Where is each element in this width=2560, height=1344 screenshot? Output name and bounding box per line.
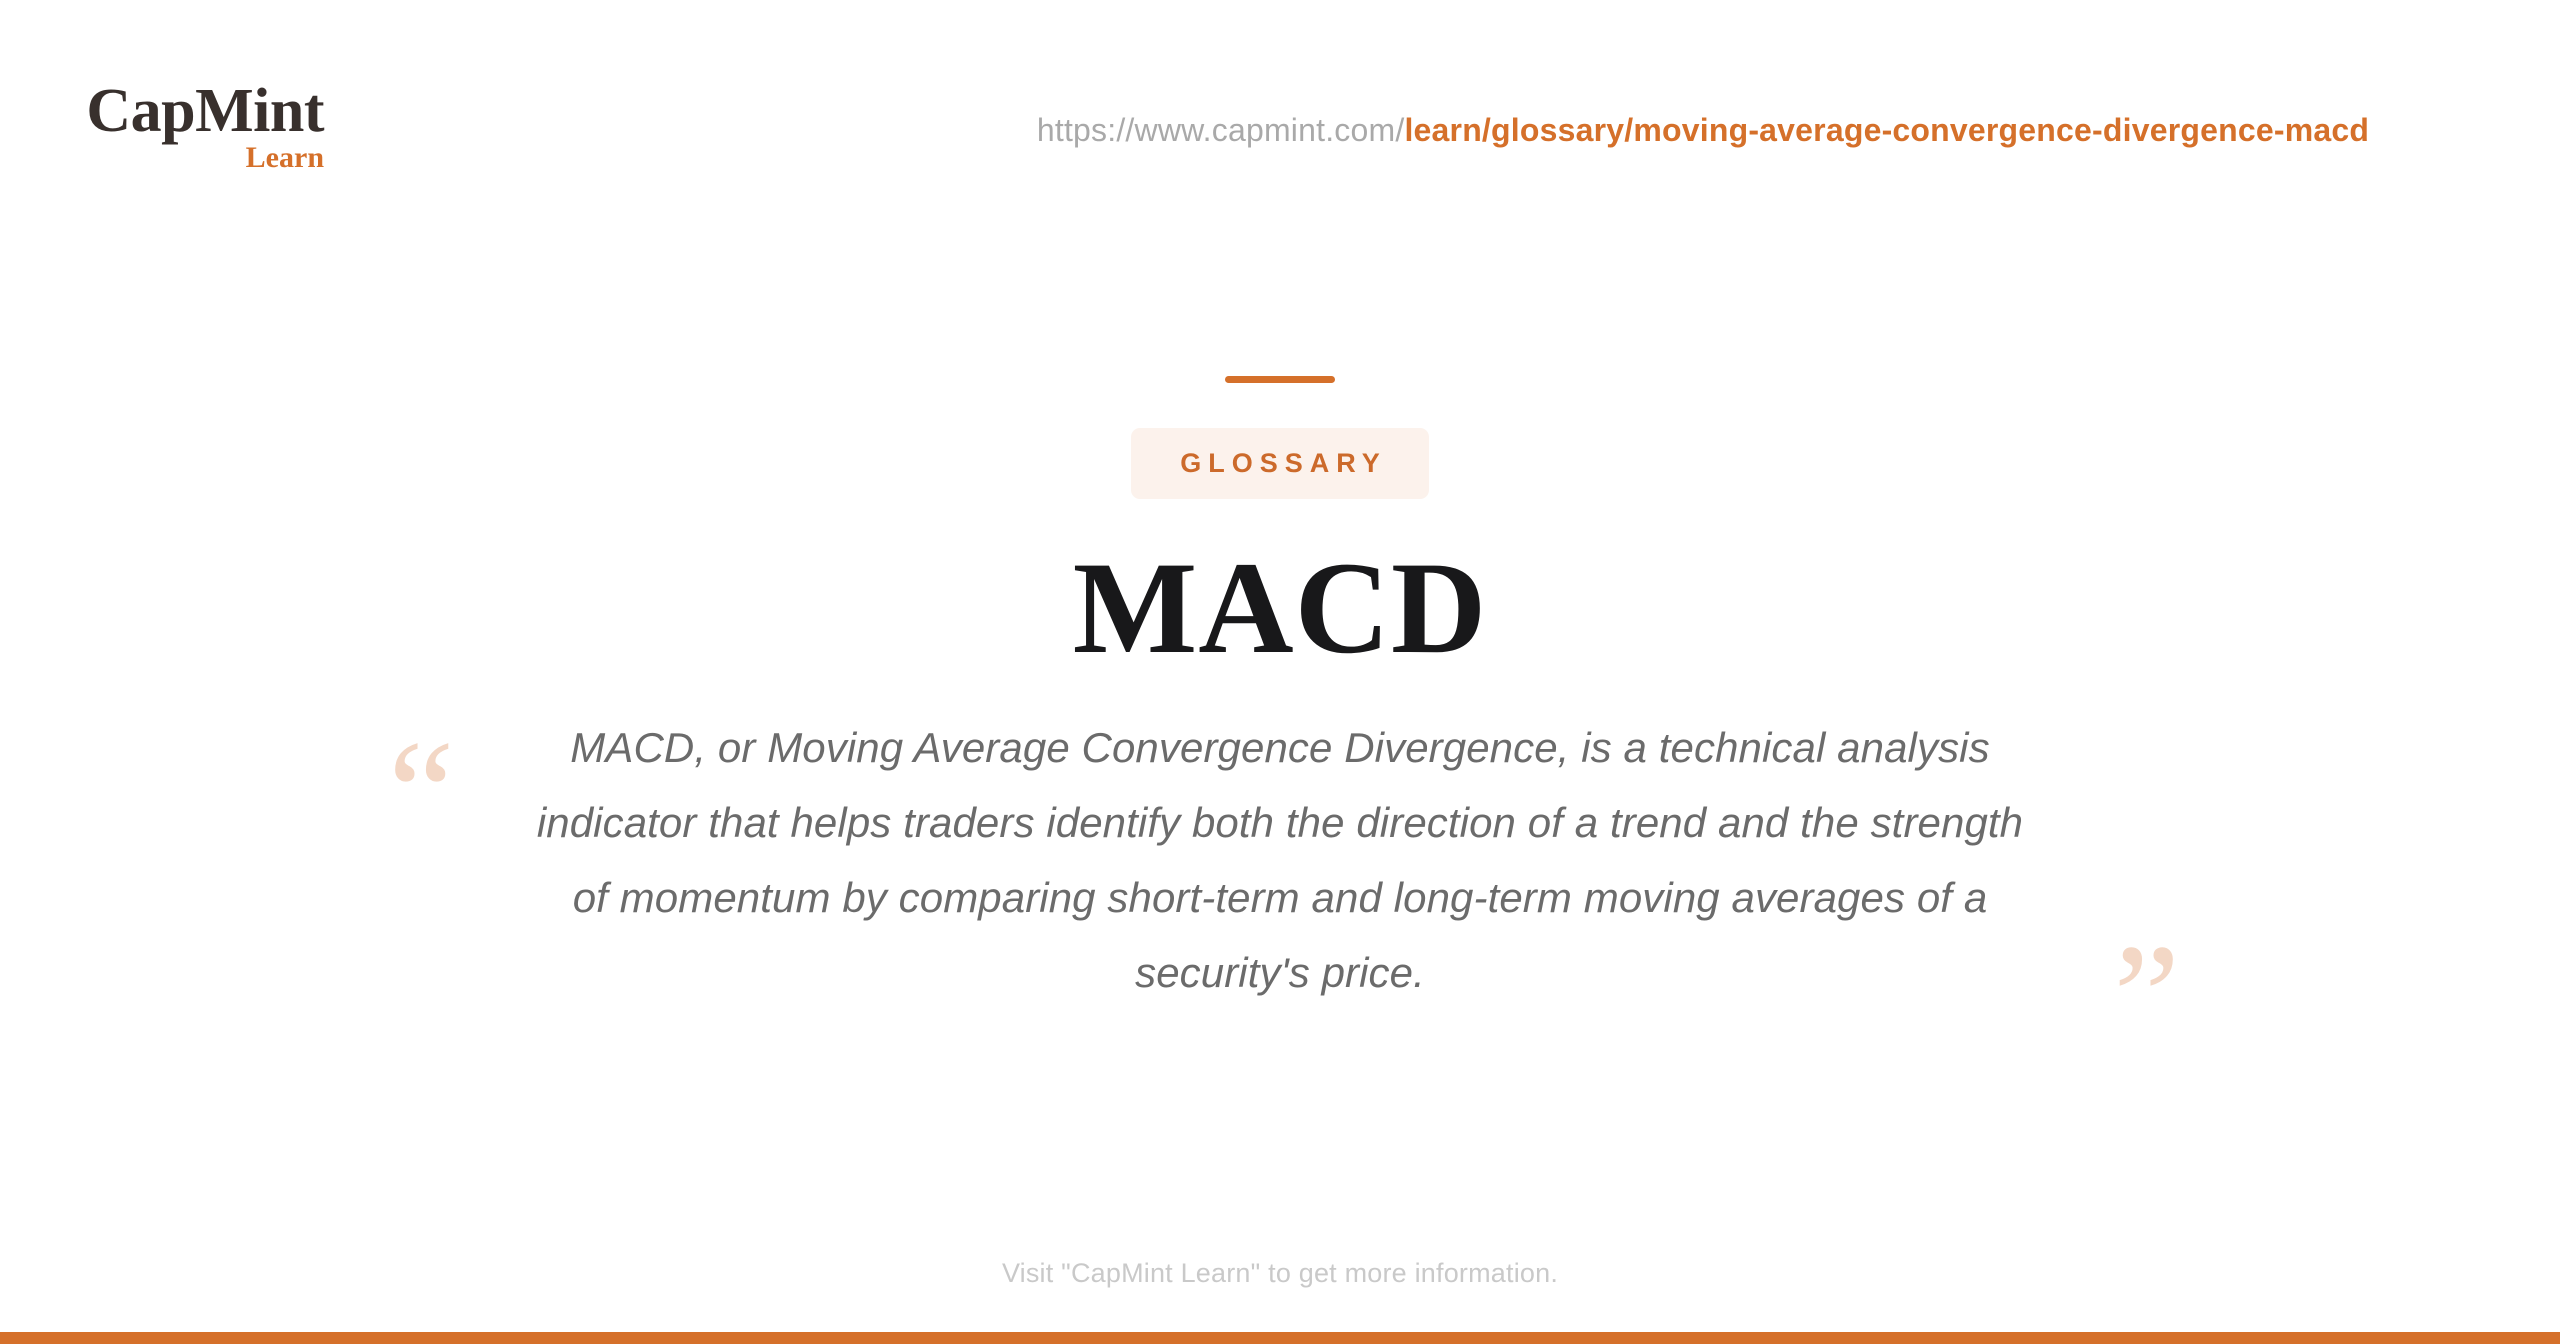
brand-logo[interactable]: CapMint Learn bbox=[84, 82, 324, 173]
brand-name: CapMint bbox=[84, 82, 324, 141]
bottom-accent-bar bbox=[0, 1332, 2560, 1344]
brand-sublabel: Learn bbox=[84, 143, 324, 173]
accent-divider bbox=[1225, 376, 1335, 383]
category-badge: GLOSSARY bbox=[1131, 428, 1429, 499]
main-content: GLOSSARY MACD “ MACD, or Moving Average … bbox=[0, 200, 2560, 1260]
page-header: CapMint Learn https://www.capmint.com/le… bbox=[0, 0, 2560, 200]
page-url[interactable]: https://www.capmint.com/learn/glossary/m… bbox=[930, 108, 2476, 152]
url-base: https://www.capmint.com/ bbox=[1037, 112, 1405, 148]
quote-open-icon: “ bbox=[388, 718, 455, 868]
url-path: learn/glossary/moving-average-convergenc… bbox=[1404, 112, 2369, 148]
definition-text: MACD, or Moving Average Convergence Dive… bbox=[525, 710, 2035, 1010]
glossary-card: CapMint Learn https://www.capmint.com/le… bbox=[0, 0, 2560, 1344]
page-title: MACD bbox=[1073, 535, 1488, 680]
quote-close-icon: ” bbox=[2113, 922, 2180, 1072]
footer-note: Visit "CapMint Learn" to get more inform… bbox=[0, 1258, 2560, 1289]
definition-quote: “ MACD, or Moving Average Convergence Di… bbox=[380, 710, 2180, 1010]
